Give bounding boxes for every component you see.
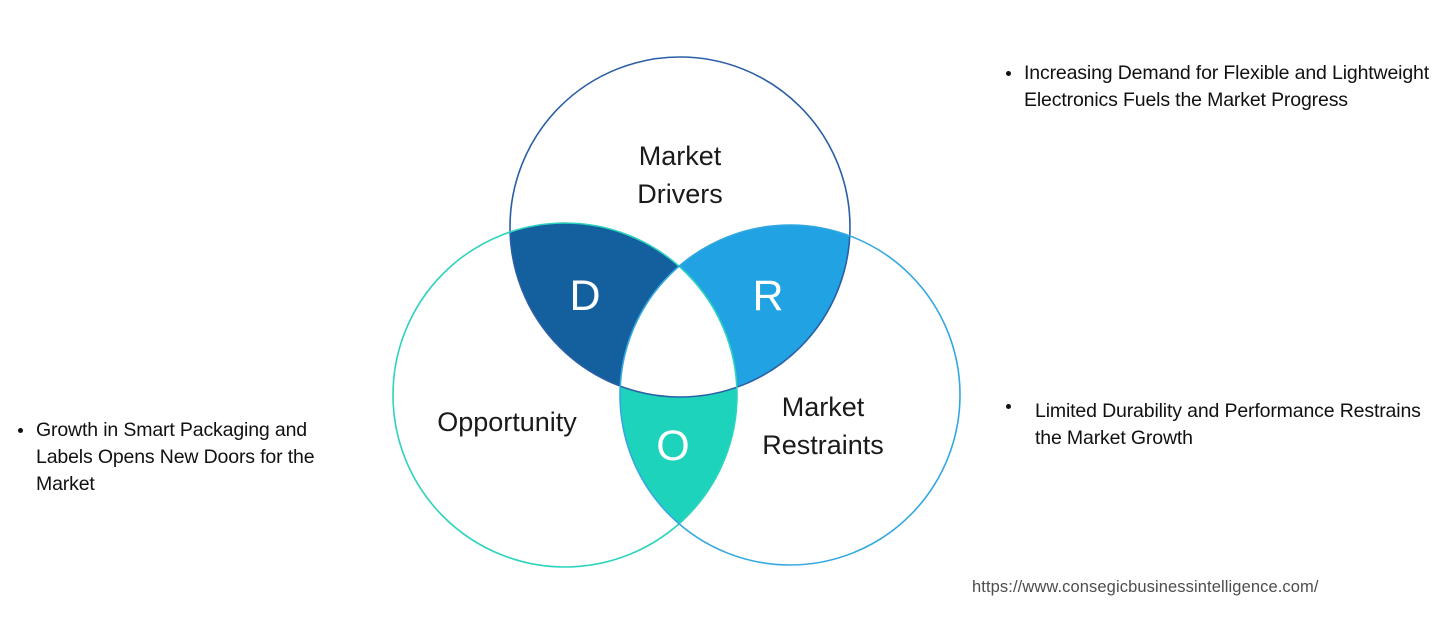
venn-label-opportunity: Opportunity [437,407,577,437]
venn-letter-r: R [752,272,783,320]
venn-label-restraints-line1: Market [782,392,865,422]
callout-opportunity: Growth in Smart Packaging and Labels Ope… [18,417,368,498]
venn-diagram: Market Drivers Opportunity Market Restra… [380,40,980,585]
slide-canvas: Market Drivers Opportunity Market Restra… [0,0,1453,643]
callout-market-drivers-text: Increasing Demand for Flexible and Light… [1024,60,1436,114]
venn-label-restraints-line2: Restraints [762,430,884,460]
callout-opportunity-text: Growth in Smart Packaging and Labels Ope… [36,417,368,498]
bullet-icon [1006,71,1011,76]
venn-label-drivers-line2: Drivers [637,179,723,209]
callout-market-restraints: Limited Durability and Performance Restr… [1006,398,1436,452]
bullet-icon [1006,404,1011,409]
bullet-icon [18,428,23,433]
callout-market-restraints-text: Limited Durability and Performance Restr… [1035,398,1436,452]
callout-market-drivers: Increasing Demand for Flexible and Light… [1006,60,1436,114]
venn-letter-o: O [656,422,689,470]
venn-diagram-svg: Market Drivers Opportunity Market Restra… [380,40,980,585]
venn-label-drivers-line1: Market [639,141,722,171]
venn-letter-d: D [569,272,600,320]
source-url-link[interactable]: https://www.consegicbusinessintelligence… [972,578,1319,597]
